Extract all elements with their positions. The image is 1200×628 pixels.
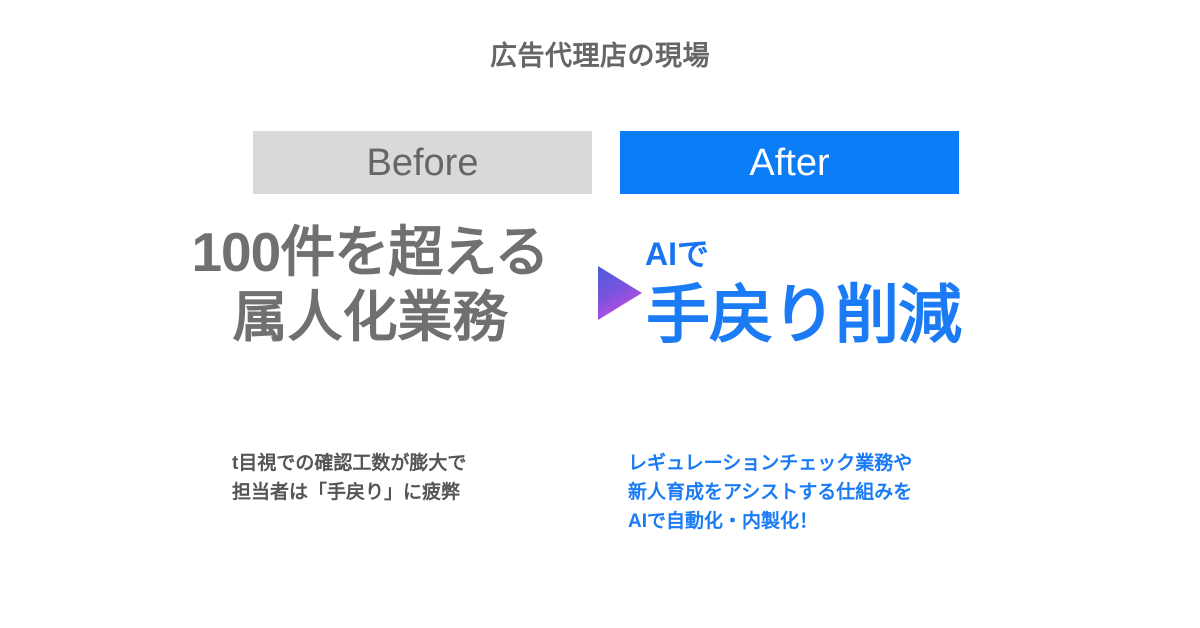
before-headline: 100件を超える 属人化業務 [150,220,590,350]
after-caption-line1: レギュレーションチェック業務や [628,450,912,479]
before-headline-line2: 属人化業務 [150,285,590,350]
after-column: After [620,131,959,194]
before-banner: Before [253,131,592,194]
after-caption-line3: AIで自動化・内製化！ [628,508,912,537]
before-caption-line1: t目視での確認工数が膨大で [232,450,466,479]
before-banner-label: Before [367,144,479,182]
before-caption: t目視での確認工数が膨大で 担当者は「手戻り」に疲弊 [232,450,466,508]
after-banner-label: After [749,144,829,182]
after-kicker: AIで [645,238,709,270]
slide-canvas: 広告代理店の現場 Before 100件を超える 属人化業務 t目視での確認工数… [0,0,1200,628]
before-headline-line1: 100件を超える [150,220,590,285]
after-headline: 手戻り削減 [646,283,961,348]
before-column: Before [253,131,592,194]
right-triangle-arrow-icon [598,266,642,320]
after-banner: After [620,131,959,194]
after-caption-line2: 新人育成をアシストする仕組みを [628,479,912,508]
page-title: 広告代理店の現場 [0,34,1200,73]
before-caption-line2: 担当者は「手戻り」に疲弊 [232,479,466,508]
after-caption: レギュレーションチェック業務や 新人育成をアシストする仕組みを AIで自動化・内… [628,450,912,537]
